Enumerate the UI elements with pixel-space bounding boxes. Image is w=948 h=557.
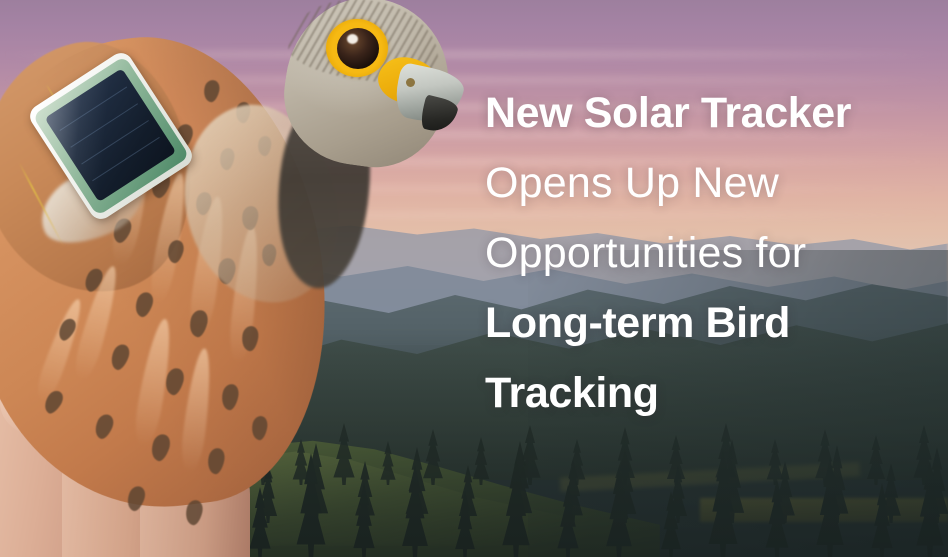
headline-line-2: Opens Up New — [485, 148, 940, 218]
kestrel-nostril — [406, 78, 415, 87]
headline-line-4: Long-term Bird — [485, 288, 940, 358]
headline-line-5: Tracking — [485, 358, 940, 428]
kestrel-eye — [337, 28, 379, 69]
headline-line-3: Opportunities for — [485, 218, 940, 288]
kestrel-eye-glint — [347, 34, 358, 44]
headline-block: New Solar Tracker Opens Up New Opportuni… — [485, 78, 940, 428]
headline-line-1: New Solar Tracker — [485, 78, 940, 148]
promo-banner: New Solar Tracker Opens Up New Opportuni… — [0, 0, 948, 557]
kestrel-with-tracker — [0, 0, 470, 557]
